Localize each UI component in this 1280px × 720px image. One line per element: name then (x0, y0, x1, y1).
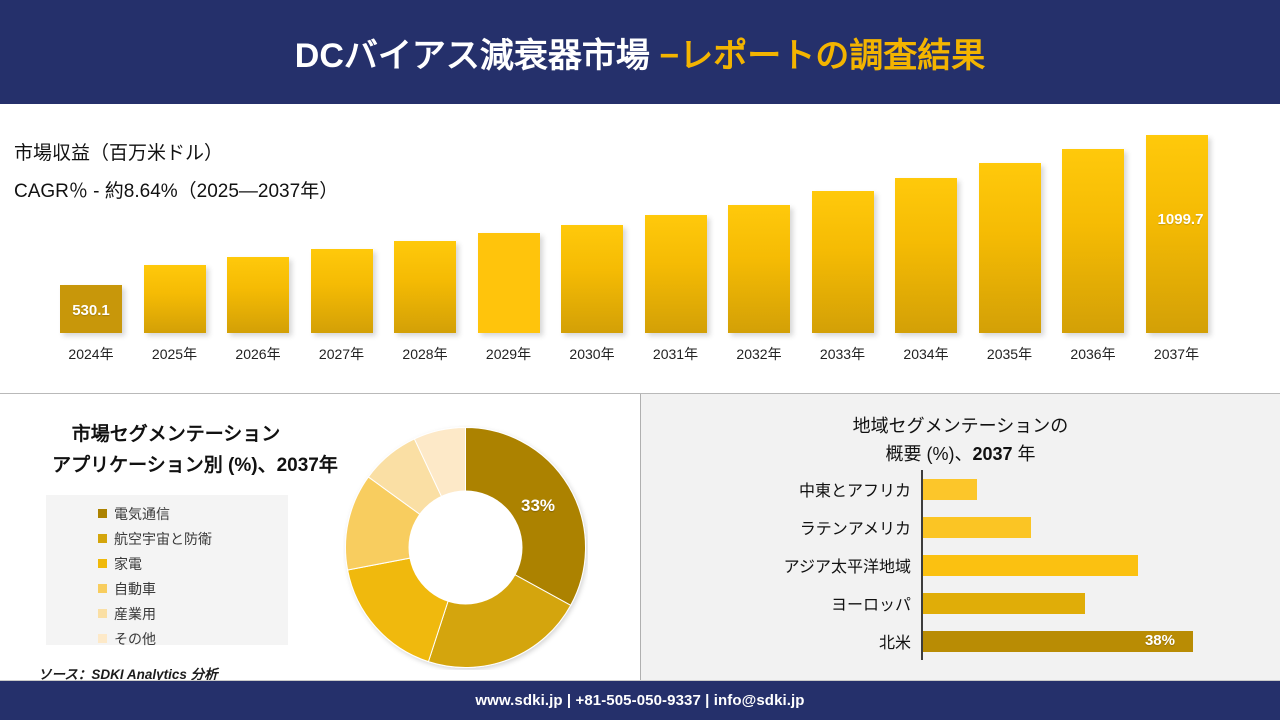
donut-chart: 33% (343, 425, 588, 670)
bar-column: 2026年 (227, 257, 289, 333)
legend-item-label: 電気通信 (114, 504, 170, 524)
bar-column: 2029年 (478, 233, 540, 333)
legend-item[interactable]: 航空宇宙と防衛 (98, 526, 212, 551)
region-title-line2: 概要 (%)、2037 年 (641, 440, 1280, 468)
bar-x-label: 2035年 (972, 344, 1048, 364)
region-bar[interactable]: 38% (923, 631, 1193, 652)
bar-column: 2031年 (645, 215, 707, 333)
legend-item-label: 自動車 (114, 579, 156, 599)
bar-shape: 2028年 (394, 241, 456, 333)
region-bar[interactable] (923, 593, 1085, 614)
bar-shape: 2036年 (1062, 149, 1124, 333)
bar-shape: 2033年 (812, 191, 874, 333)
region-row: ラテンアメリカ (641, 508, 1280, 546)
legend-swatch-icon (98, 559, 107, 568)
region-title-suffix: 年 (1013, 444, 1036, 464)
donut-value-label: 33% (521, 496, 555, 516)
bar-shape: 530.12024年 (60, 285, 122, 333)
bar-shape: 2029年 (478, 233, 540, 333)
region-bar[interactable] (923, 479, 977, 500)
region-row-label: 北米 (879, 629, 911, 653)
legend-item-label: 産業用 (114, 604, 156, 624)
region-row: 中東とアフリカ (641, 470, 1280, 508)
region-title-plain: 概要 (%)、 (885, 444, 972, 464)
bar-x-label: 2030年 (554, 344, 630, 364)
bar-shape: 2027年 (311, 249, 373, 333)
region-row: ヨーロッパ (641, 584, 1280, 622)
bar-column: 2028年 (394, 241, 456, 333)
page-title-accent: −レポートの調査結果 (659, 37, 985, 75)
region-bar[interactable] (923, 517, 1031, 538)
legend-item-label: 家電 (114, 554, 142, 574)
bar-value-label: 1099.7 (1150, 211, 1212, 228)
region-title-year: 2037 (972, 444, 1012, 464)
bar-x-label: 2025年 (137, 344, 213, 364)
region-row-label: アジア太平洋地域 (784, 553, 911, 577)
bar-shape: 2030年 (561, 225, 623, 333)
donut-legend-box: 電気通信航空宇宙と防衛家電自動車産業用その他 (46, 495, 288, 645)
bar-shape: 2035年 (979, 163, 1041, 333)
bar-value-label: 530.1 (60, 302, 122, 319)
legend-item[interactable]: その他 (98, 626, 212, 651)
legend-item[interactable]: 自動車 (98, 576, 212, 601)
region-panel: 地域セグメンテーションの 概要 (%)、2037 年 中東とアフリカラテンアメリ… (641, 394, 1280, 680)
bar-column: 2035年 (979, 163, 1041, 333)
region-row-label: ラテンアメリカ (800, 515, 911, 539)
footer-contact: www.sdki.jp | +81-505-050-9337 | info@sd… (475, 692, 804, 709)
region-row-label: 中東とアフリカ (799, 477, 911, 501)
bar-column: 2034年 (895, 178, 957, 333)
legend-swatch-icon (98, 584, 107, 593)
legend-item-label: 航空宇宙と防衛 (114, 529, 212, 549)
legend-item[interactable]: 電気通信 (98, 501, 212, 526)
region-title: 地域セグメンテーションの 概要 (%)、2037 年 (641, 412, 1280, 468)
header-banner: DCバイアス減衰器市場 −レポートの調査結果 (0, 0, 1280, 104)
region-bar[interactable] (923, 555, 1138, 576)
legend-item[interactable]: 産業用 (98, 601, 212, 626)
bar-column: 2027年 (311, 249, 373, 333)
bar-x-label: 2034年 (888, 344, 964, 364)
revenue-bar-chart: 530.12024年2025年2026年2027年2028年2029年2030年… (0, 104, 1280, 393)
bar-column: 2036年 (1062, 149, 1124, 333)
market-revenue-panel: 市場収益（百万米ドル） CAGR％ - 約8.64%（2025―2037年） 5… (0, 104, 1280, 393)
bar-x-label: 2024年 (53, 344, 129, 364)
region-row: アジア太平洋地域 (641, 546, 1280, 584)
bar-x-label: 2027年 (304, 344, 380, 364)
footer-banner: www.sdki.jp | +81-505-050-9337 | info@sd… (0, 681, 1280, 720)
bar-shape: 2031年 (645, 215, 707, 333)
donut-legend: 電気通信航空宇宙と防衛家電自動車産業用その他 (98, 501, 212, 651)
bar-x-label: 2033年 (805, 344, 881, 364)
bar-x-label: 2028年 (387, 344, 463, 364)
bar-shape: 2034年 (895, 178, 957, 333)
bar-column: 2033年 (812, 191, 874, 333)
region-bar-value: 38% (1145, 632, 1175, 649)
page-title-primary: DCバイアス減衰器市場 (295, 37, 660, 75)
bar-column: 2032年 (728, 205, 790, 333)
infographic-page: DCバイアス減衰器市場 −レポートの調査結果 市場収益（百万米ドル） CAGR％… (0, 0, 1280, 720)
bar-column: 2030年 (561, 225, 623, 333)
bar-column: 1099.72037年 (1146, 135, 1208, 333)
region-title-line1: 地域セグメンテーションの (641, 412, 1280, 440)
legend-swatch-icon (98, 534, 107, 543)
region-row-label: ヨーロッパ (831, 591, 911, 615)
legend-swatch-icon (98, 509, 107, 518)
legend-item[interactable]: 家電 (98, 551, 212, 576)
bar-x-label: 2037年 (1139, 344, 1215, 364)
bar-x-label: 2032年 (721, 344, 797, 364)
bar-shape: 2025年 (144, 265, 206, 333)
bar-x-label: 2036年 (1055, 344, 1131, 364)
donut-svg (343, 425, 588, 670)
bar-shape: 2026年 (227, 257, 289, 333)
bar-shape: 1099.72037年 (1146, 135, 1208, 333)
legend-swatch-icon (98, 634, 107, 643)
bar-x-label: 2026年 (220, 344, 296, 364)
bar-x-label: 2031年 (638, 344, 714, 364)
bar-column: 2025年 (144, 265, 206, 333)
region-row: 北米38% (641, 622, 1280, 660)
bar-x-label: 2029年 (471, 344, 547, 364)
legend-item-label: その他 (114, 629, 156, 649)
page-title: DCバイアス減衰器市場 −レポートの調査結果 (295, 28, 985, 77)
bar-column: 530.12024年 (60, 285, 122, 333)
bar-shape: 2032年 (728, 205, 790, 333)
legend-swatch-icon (98, 609, 107, 618)
